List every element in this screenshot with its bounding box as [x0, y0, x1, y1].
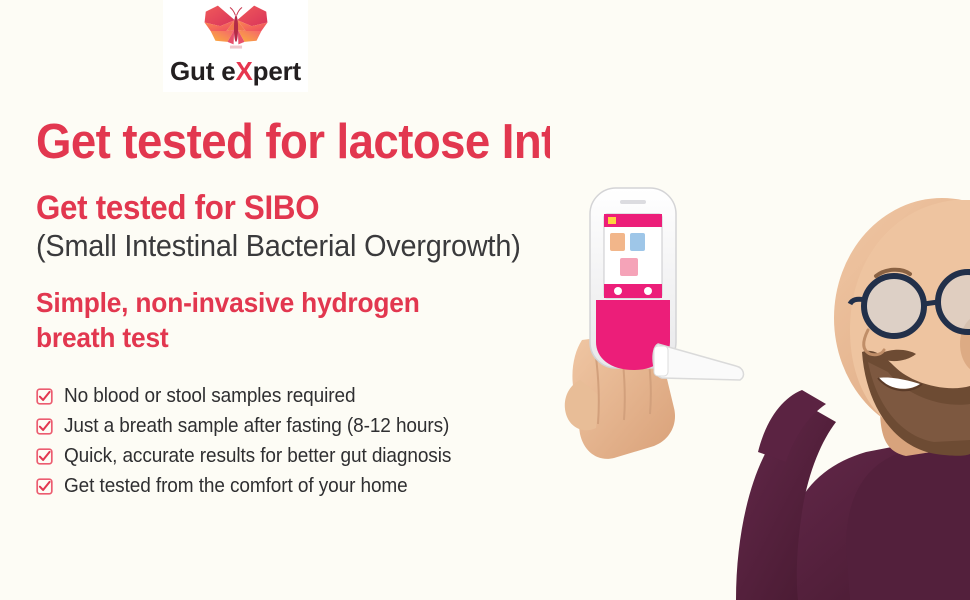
sibo-expansion-text: (Small Intestinal Bacterial Overgrowth)	[36, 229, 557, 263]
logo-word-part-1: Gut e	[170, 56, 235, 86]
logo-word-part-2: pert	[253, 56, 301, 86]
list-item-label: Quick, accurate results for better gut d…	[64, 445, 451, 468]
checkbox-checked-icon	[36, 448, 53, 465]
logo-wordmark: Gut eXpert	[170, 56, 301, 87]
list-item-label: Get tested from the comfort of your home	[64, 475, 408, 498]
checkbox-checked-icon	[36, 388, 53, 405]
tagline: Simple, non-invasive hydrogen breath tes…	[36, 285, 440, 356]
brand-logo[interactable]: Gut eXpert	[163, 0, 308, 92]
butterfly-icon	[199, 2, 273, 54]
list-item: Get tested from the comfort of your home	[36, 471, 596, 501]
page-title: Get tested for lactose Intolerance	[36, 118, 557, 168]
promo-banner: Gut eXpert Get tested for lactose Intole…	[0, 0, 970, 600]
hero-photo	[550, 0, 970, 600]
man-with-breath-test-device-illustration	[550, 0, 970, 600]
list-item-label: Just a breath sample after fasting (8-12…	[64, 415, 449, 438]
list-item: Quick, accurate results for better gut d…	[36, 441, 596, 471]
checkbox-checked-icon	[36, 478, 53, 495]
copy-column: Get tested for lactose Intolerance Get t…	[36, 118, 596, 501]
logo-word-accent: X	[235, 56, 252, 86]
list-item: No blood or stool samples required	[36, 381, 596, 411]
benefits-list: No blood or stool samples required Just …	[36, 381, 596, 501]
checkbox-checked-icon	[36, 418, 53, 435]
list-item-label: No blood or stool samples required	[64, 385, 355, 408]
sibo-subheadline: Get tested for SIBO	[36, 190, 551, 227]
list-item: Just a breath sample after fasting (8-12…	[36, 411, 596, 441]
